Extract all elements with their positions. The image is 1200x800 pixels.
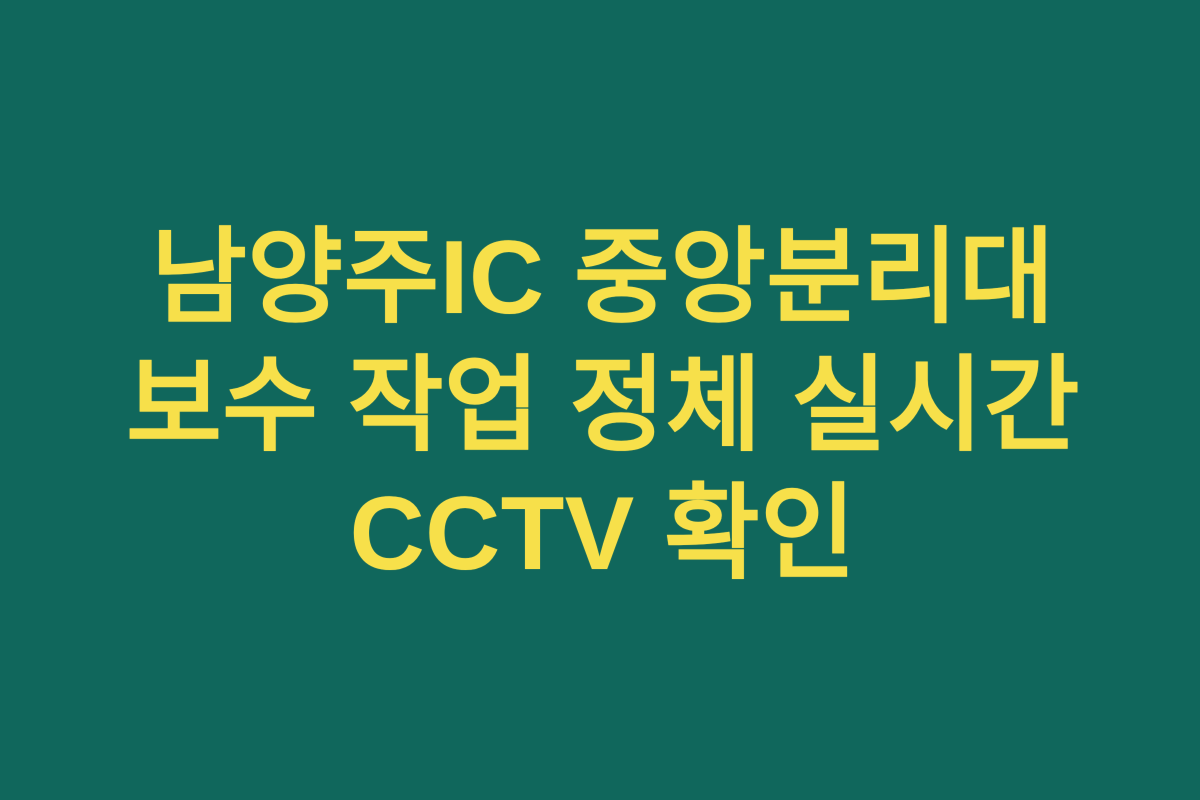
page-title: 남양주IC 중앙분리대 보수 작업 정체 실시간 CCTV 확인 [96, 214, 1110, 598]
headline-text: 남양주IC 중앙분리대 보수 작업 정체 실시간 CCTV 확인 [126, 220, 1080, 592]
headline-card: 남양주IC 중앙분리대 보수 작업 정체 실시간 CCTV 확인 [0, 0, 1200, 800]
